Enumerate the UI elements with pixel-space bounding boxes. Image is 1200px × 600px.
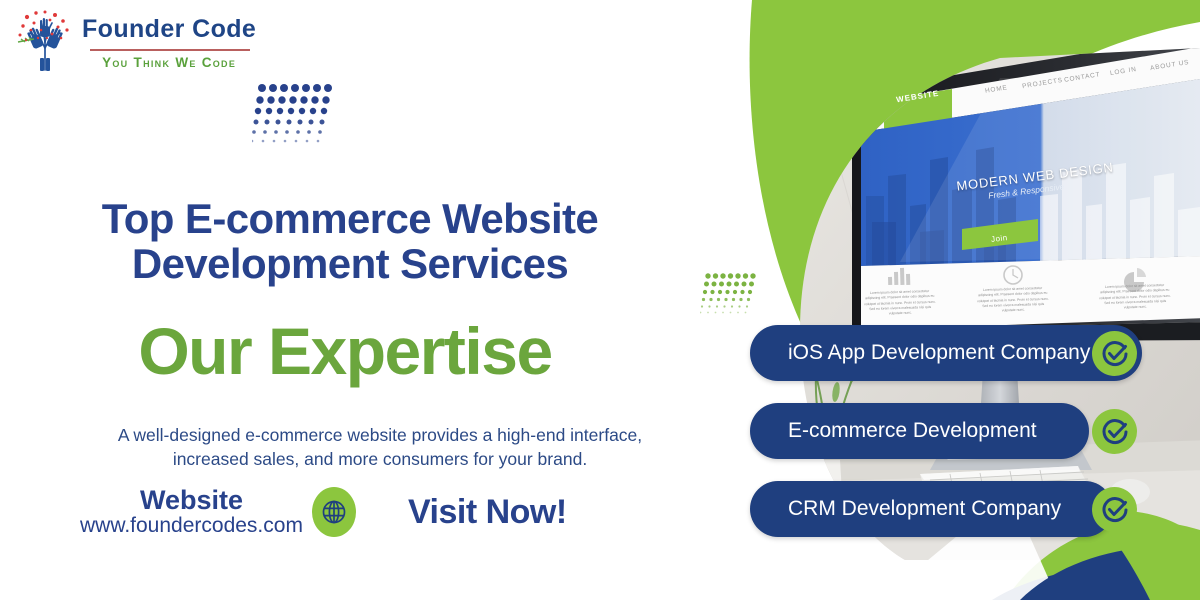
logo-divider [90,49,250,51]
mockup-join-button[interactable]: Join [991,233,1009,244]
page-title: Top E-commerce Website Development Servi… [0,196,700,287]
brand-logo[interactable]: Founder Code You Think We Code [14,8,256,74]
website-label: Website [140,486,243,514]
mockup-feature-text-3: Lorem ipsum dolor sit amet consectetur a… [1098,283,1173,312]
mockup-feature-text-2: Lorem ipsum dolor sit amet consectetur a… [976,286,1051,315]
mockup-nav-item-login[interactable]: LOG IN [1110,66,1138,77]
subheadline: Our Expertise [0,318,690,384]
visit-now-button[interactable]: Visit Now! [408,493,567,532]
headline-line-1: Top E-commerce Website [0,196,700,241]
promo-banner: Founder Code You Think We Code [0,0,1200,600]
website-url[interactable]: www.foundercodes.com [80,514,303,538]
navy-dot-grid [252,84,344,166]
mockup-nav-brand: WEBSITE [896,89,940,105]
brand-name: Founder Code [82,17,256,42]
headline-line-2: Development Services [0,241,700,286]
mockup-nav-item-about[interactable]: ABOUT US [1150,59,1190,72]
mockup-nav-item-home[interactable]: HOME [985,84,1009,94]
cta-row: Website www.foundercodes.com Visit Now! [80,482,700,542]
brand-tagline: You Think We Code [102,56,236,70]
globe-icon[interactable] [312,487,356,537]
website-link[interactable]: Website www.foundercodes.com [80,486,356,538]
description-text: A well-designed e-commerce website provi… [110,424,650,471]
website-mockup: WEBSITE HOME PROJECTS CONTACT LOG IN ABO… [700,0,1200,600]
mockup-nav-item-projects[interactable]: PROJECTS [1022,77,1064,90]
mockup-feature-text-1: Lorem ipsum dolor sit amet consectetur a… [863,289,938,318]
tree-hands-logo-icon [14,8,76,74]
mockup-nav-item-contact[interactable]: CONTACT [1064,71,1101,84]
globe-glyph [320,498,348,526]
